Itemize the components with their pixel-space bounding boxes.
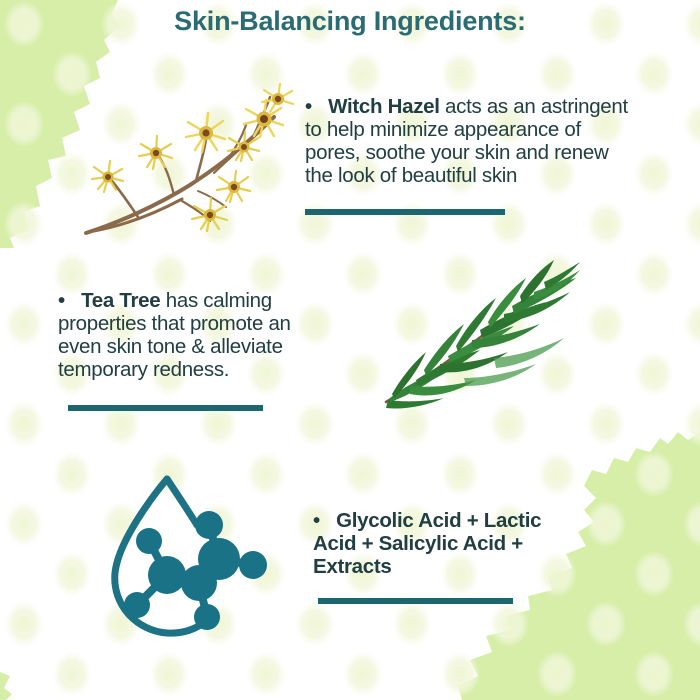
- bullet-icon: •: [305, 95, 312, 118]
- bullet-icon: •: [58, 289, 65, 312]
- tea-tree-sprig-photo: [368, 252, 583, 417]
- ingredient-name: Tea Tree: [81, 289, 160, 312]
- witch-hazel-branch-photo: [78, 55, 328, 245]
- page-title: Skin-Balancing Ingredients:: [0, 6, 700, 37]
- ingredient-name: Glycolic Acid + Lactic Acid + Salicylic …: [313, 509, 541, 578]
- ingredient-name: Witch Hazel: [328, 95, 440, 118]
- divider-rule-2: [68, 405, 263, 411]
- ingredient-text-acids: • Glycolic Acid + Lactic Acid + Salicyli…: [313, 510, 583, 579]
- divider-rule-1: [305, 209, 505, 215]
- ingredients-infographic: Skin-Balancing Ingredients:: [0, 0, 700, 700]
- ingredient-block-witch-hazel: • Witch Hazel acts as an astringent to h…: [305, 96, 635, 188]
- ingredient-block-acids: • Glycolic Acid + Lactic Acid + Salicyli…: [313, 510, 583, 579]
- ingredient-text-tea-tree: • Tea Tree has calming properties that p…: [58, 290, 338, 382]
- ingredient-text-witch-hazel: • Witch Hazel acts as an astringent to h…: [305, 96, 635, 188]
- droplet-molecule-icon: [95, 465, 290, 655]
- bullet-icon: •: [313, 509, 320, 532]
- ingredient-block-tea-tree: • Tea Tree has calming properties that p…: [58, 290, 338, 382]
- divider-rule-3: [318, 598, 513, 604]
